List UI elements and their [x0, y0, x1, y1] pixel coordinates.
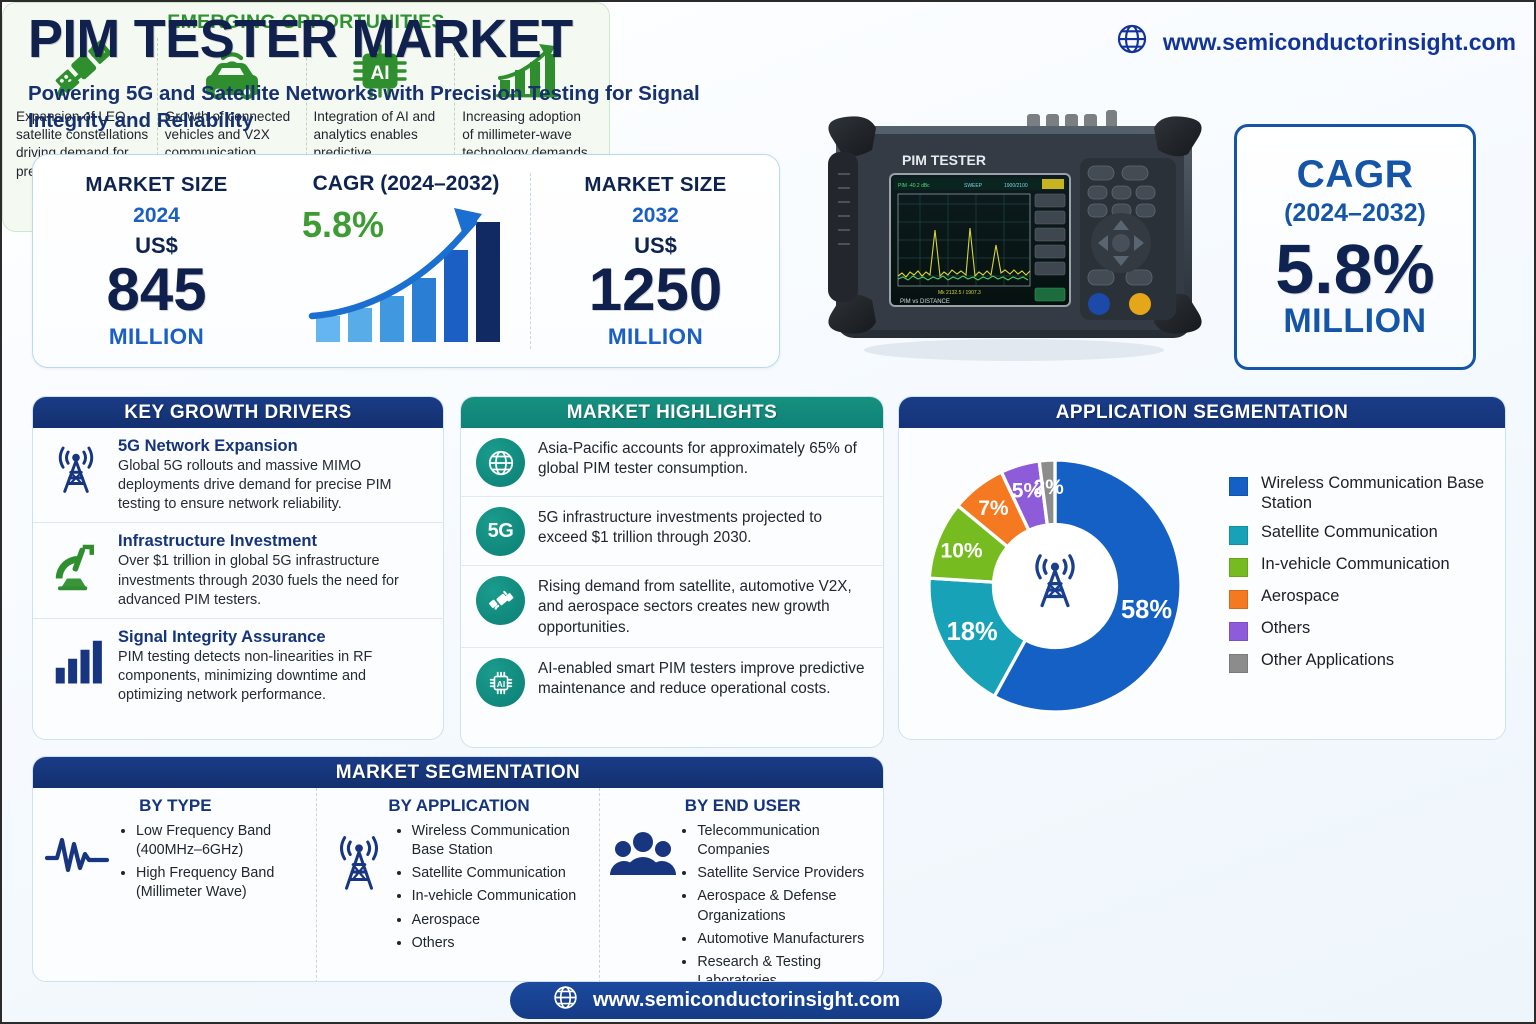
cagr-highlight-card: CAGR (2024–2032) 5.8% MILLION	[1234, 124, 1476, 370]
list-item: Wireless Communication Base Station	[412, 822, 592, 860]
cell-tower-icon	[327, 822, 391, 896]
segmentation-by-end-user-list: Telecommunication Companies Satellite Se…	[682, 822, 875, 982]
growth-bars-chart	[304, 200, 534, 350]
legend-swatch	[1229, 526, 1248, 545]
list-item: Satellite Service Providers	[697, 864, 875, 883]
list-item: Research & Testing Laboratories	[697, 953, 875, 982]
list-item: In-vehicle Communication	[412, 887, 592, 906]
legend-label: In-vehicle Communication	[1261, 555, 1450, 575]
page-title: PIM TESTER MARKET	[28, 8, 573, 70]
market-highlight-text: AI-enabled smart PIM testers improve pre…	[538, 658, 869, 700]
market-size-2032-caption: MARKET SIZE	[532, 173, 779, 197]
growth-driver-item: 5G Network Expansion Global 5G rollouts …	[33, 428, 443, 522]
cagr-card-title: CAGR	[1297, 153, 1414, 197]
market-segmentation-heading: MARKET SEGMENTATION	[33, 757, 883, 788]
footer-website-badge[interactable]: www.semiconductorinsight.com	[510, 982, 942, 1019]
market-size-2024-unit: MILLION	[33, 324, 280, 350]
legend-swatch	[1229, 654, 1248, 673]
key-growth-drivers-heading: KEY GROWTH DRIVERS	[33, 397, 443, 428]
market-size-2032-currency: US$	[532, 233, 779, 259]
application-segmentation-heading: APPLICATION SEGMENTATION	[899, 397, 1505, 428]
segmentation-by-type: BY TYPE Low Frequency Band (400MHz–6GHz)…	[33, 788, 316, 982]
market-highlight-item: Rising demand from satellite, automotive…	[461, 565, 883, 647]
legend-label: Satellite Communication	[1261, 523, 1438, 543]
donut-slice-label: 18%	[947, 618, 998, 646]
svg-text:AI: AI	[496, 678, 504, 688]
market-highlight-item: AI AI-enabled smart PIM testers improve …	[461, 647, 883, 716]
page-subtitle: Powering 5G and Satellite Networks with …	[28, 80, 748, 134]
list-item: Automotive Manufacturers	[697, 930, 875, 949]
donut-slice-label: 7%	[978, 497, 1009, 520]
legend-swatch	[1229, 558, 1248, 577]
market-highlight-item: Asia-Pacific accounts for approximately …	[461, 428, 883, 496]
legend-label: Others	[1261, 619, 1310, 639]
legend-item[interactable]: Other Applications	[1229, 651, 1505, 673]
growth-driver-body: PIM testing detects non-linearities in R…	[118, 648, 429, 705]
list-item: Telecommunication Companies	[697, 822, 875, 860]
legend-swatch	[1229, 590, 1248, 609]
donut-slice-label: 10%	[941, 539, 983, 562]
svg-text:1900/2100: 1900/2100	[1004, 183, 1028, 189]
list-item: High Frequency Band (Millimeter Wave)	[136, 864, 308, 902]
growth-driver-item: Signal Integrity Assurance PIM testing d…	[33, 618, 443, 713]
legend-item[interactable]: Others	[1229, 619, 1505, 641]
5g-badge-icon: 5G	[476, 507, 525, 556]
segmentation-by-application-heading: BY APPLICATION	[327, 796, 592, 816]
market-segmentation-panel: MARKET SEGMENTATION BY TYPE Low Frequenc…	[32, 756, 884, 982]
cell-tower-icon	[45, 437, 107, 497]
market-size-2024-caption: MARKET SIZE	[33, 173, 280, 197]
market-highlights-panel: MARKET HIGHLIGHTS Asia-Pacific accounts …	[460, 396, 884, 748]
segmentation-by-type-list: Low Frequency Band (400MHz–6GHz) High Fr…	[121, 822, 308, 907]
donut-slice-label: 58%	[1121, 596, 1172, 624]
market-size-2032-unit: MILLION	[532, 324, 779, 350]
users-icon	[610, 822, 676, 882]
footer-website-text: www.semiconductorinsight.com	[593, 989, 900, 1012]
header-website[interactable]: www.semiconductorinsight.com	[1115, 22, 1516, 62]
satellite-dish-icon	[45, 532, 107, 592]
legend-swatch	[1229, 477, 1248, 496]
list-item: Others	[412, 934, 592, 953]
legend-label: Other Applications	[1261, 651, 1394, 671]
svg-text:Mk 2132.5 / 1907.3: Mk 2132.5 / 1907.3	[938, 290, 981, 296]
globe-icon	[552, 984, 579, 1017]
market-size-2024-year: 2024	[33, 204, 280, 228]
market-size-2032: MARKET SIZE 2032 US$ 1250 MILLION	[532, 173, 779, 350]
bar-chart-icon	[45, 628, 107, 688]
segmentation-by-application: BY APPLICATION Wireless Communication Ba…	[316, 788, 600, 982]
cagr-card-unit: MILLION	[1283, 302, 1426, 341]
header-website-text: www.semiconductorinsight.com	[1163, 29, 1516, 56]
growth-driver-body: Over $1 trillion in global 5G infrastruc…	[118, 552, 429, 609]
globe-icon	[476, 438, 525, 487]
growth-driver-title: Signal Integrity Assurance	[118, 628, 429, 647]
market-size-2032-value: 1250	[532, 261, 779, 318]
key-growth-drivers-panel: KEY GROWTH DRIVERS 5G Network Expansion …	[32, 396, 444, 740]
cagr-caption: CAGR (2024–2032)	[280, 172, 532, 196]
growth-driver-body: Global 5G rollouts and massive MIMO depl…	[118, 457, 429, 514]
segmentation-by-application-list: Wireless Communication Base Station Sate…	[397, 822, 592, 957]
application-segmentation-legend: Wireless Communication Base StationSatel…	[1229, 474, 1505, 683]
cagr-card-period: (2024–2032)	[1284, 199, 1426, 228]
cagr-growth-block: CAGR (2024–2032) 5.8%	[280, 172, 532, 350]
legend-label: Wireless Communication Base Station	[1261, 474, 1505, 513]
pim-tester-device-image: PIM TESTER PIM -40.2 dBc SWEEP 1900/2100…	[814, 98, 1216, 386]
growth-driver-item: Infrastructure Investment Over $1 trilli…	[33, 522, 443, 617]
legend-item[interactable]: Wireless Communication Base Station	[1229, 474, 1505, 513]
market-size-2024: MARKET SIZE 2024 US$ 845 MILLION	[33, 173, 280, 350]
globe-icon	[1115, 22, 1149, 62]
waveform-icon	[43, 822, 115, 884]
satellite-icon	[476, 576, 525, 625]
list-item: Aerospace	[412, 911, 592, 930]
segmentation-by-type-heading: BY TYPE	[43, 796, 308, 816]
segmentation-by-end-user-heading: BY END USER	[610, 796, 875, 816]
svg-text:SWEEP: SWEEP	[964, 183, 983, 189]
market-size-band: MARKET SIZE 2024 US$ 845 MILLION CAGR (2…	[32, 154, 780, 368]
list-item: Satellite Communication	[412, 864, 592, 883]
application-segmentation-panel: APPLICATION SEGMENTATION 58%18%10%7%5%2%…	[898, 396, 1506, 740]
device-label: PIM TESTER	[902, 152, 986, 168]
market-size-2024-currency: US$	[33, 233, 280, 259]
svg-text:PIM vs DISTANCE: PIM vs DISTANCE	[900, 299, 950, 305]
cell-tower-icon	[1024, 550, 1086, 612]
market-highlight-text: 5G infrastructure investments projected …	[538, 507, 869, 549]
legend-item[interactable]: Satellite Communication	[1229, 523, 1505, 545]
market-highlight-item: 5G 5G infrastructure investments project…	[461, 496, 883, 565]
donut-slice-label: 2%	[1034, 476, 1065, 499]
market-highlight-text: Rising demand from satellite, automotive…	[538, 576, 869, 638]
market-highlight-text: Asia-Pacific accounts for approximately …	[538, 438, 869, 480]
market-size-2024-value: 845	[33, 261, 280, 318]
ai-chip-icon: AI	[476, 658, 525, 707]
infographic-page: PIM TESTER MARKET Powering 5G and Satell…	[0, 0, 1536, 1024]
list-item: Aerospace & Defense Organizations	[697, 887, 875, 925]
market-size-2032-year: 2032	[532, 204, 779, 228]
cagr-card-value: 5.8%	[1275, 234, 1435, 304]
growth-driver-title: 5G Network Expansion	[118, 437, 429, 456]
segmentation-by-end-user: BY END USER Telecommunication	[599, 788, 883, 982]
list-item: Low Frequency Band (400MHz–6GHz)	[136, 822, 308, 860]
legend-swatch	[1229, 622, 1248, 641]
growth-driver-title: Infrastructure Investment	[118, 532, 429, 551]
market-highlights-heading: MARKET HIGHLIGHTS	[461, 397, 883, 428]
svg-text:PIM -40.2 dBc: PIM -40.2 dBc	[898, 183, 930, 189]
legend-item[interactable]: Aerospace	[1229, 587, 1505, 609]
legend-item[interactable]: In-vehicle Communication	[1229, 555, 1505, 577]
legend-label: Aerospace	[1261, 587, 1339, 607]
